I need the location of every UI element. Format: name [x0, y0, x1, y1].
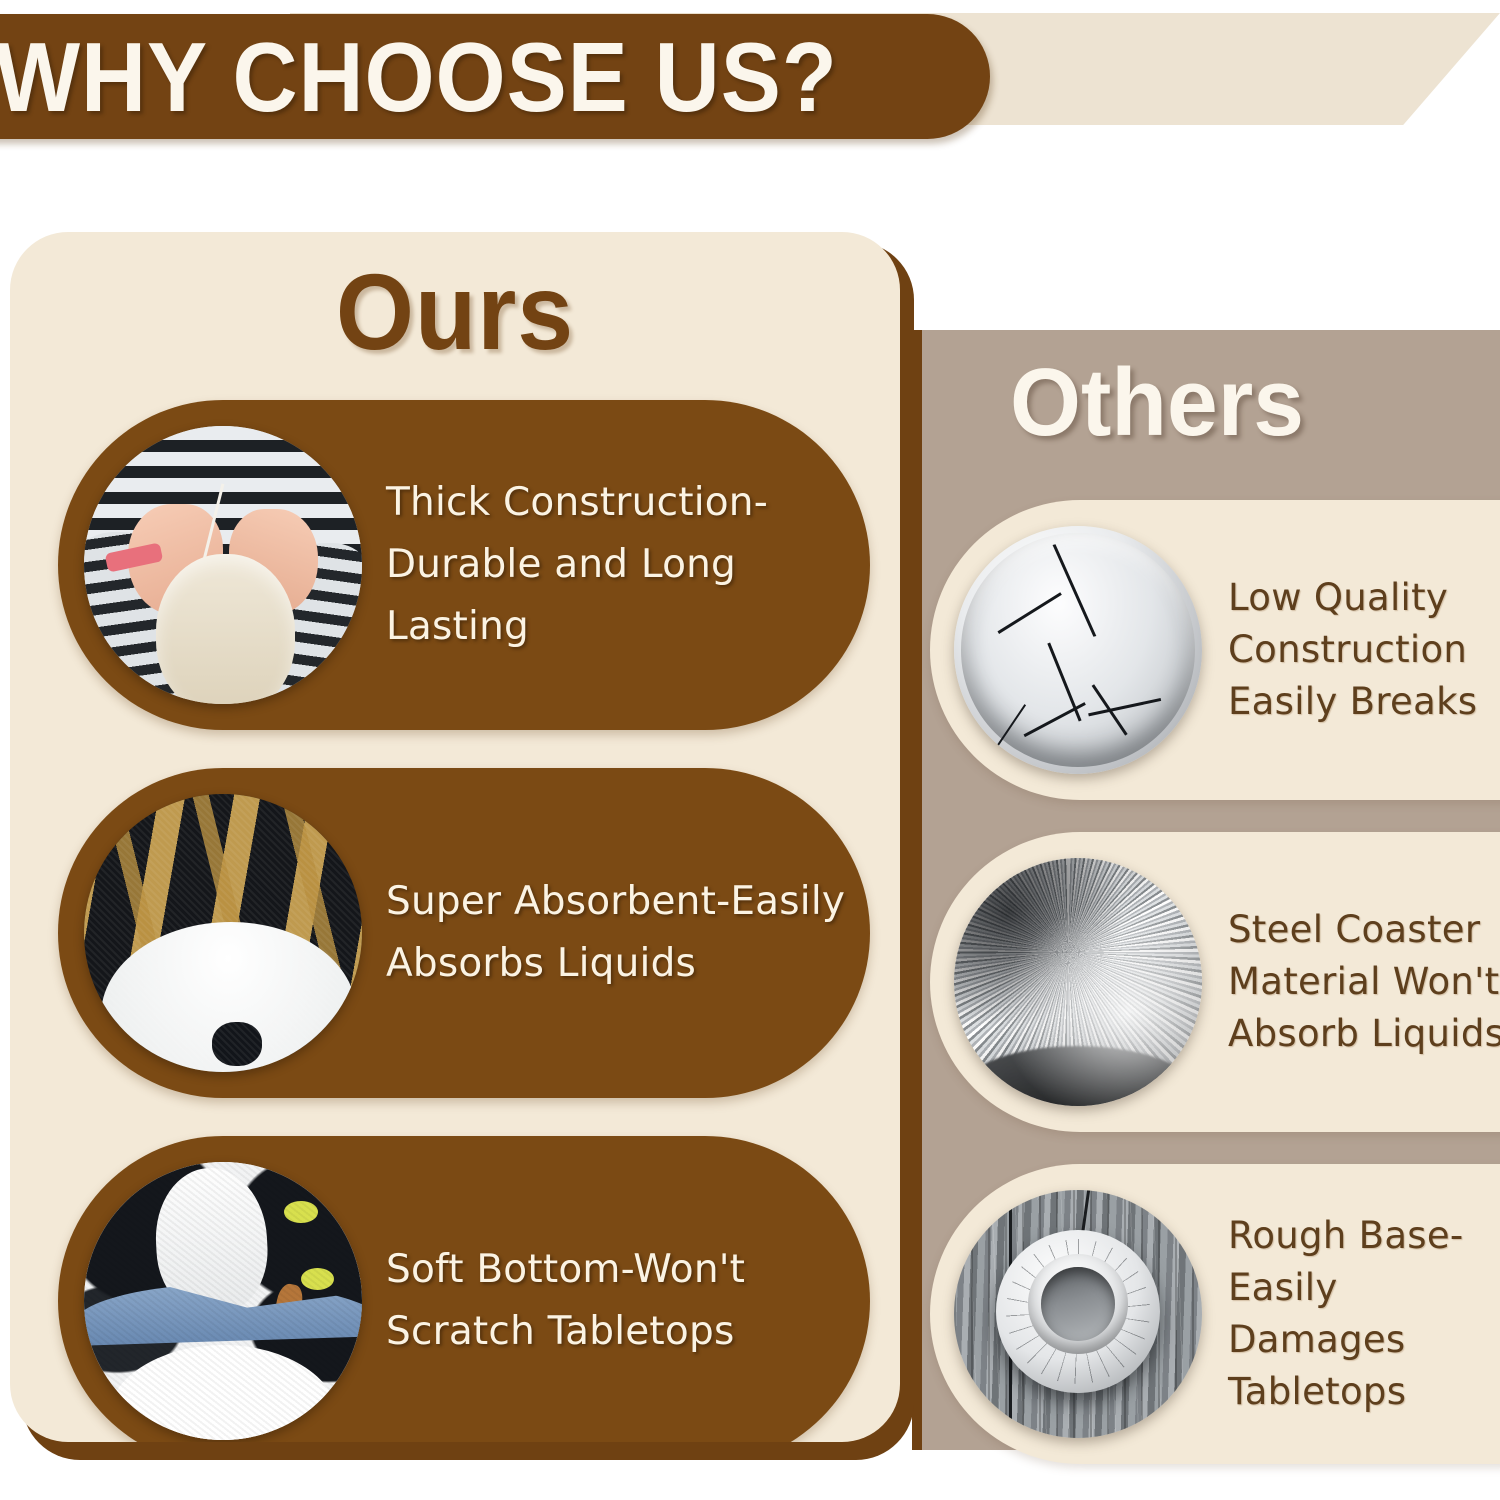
black-gold-white-knit-coaster-photo — [84, 794, 362, 1072]
ours-item-label: Super Absorbent-Easily Absorbs Liquids — [386, 871, 856, 995]
ours-list-item[interactable]: Thick Construction-Durable and Long Last… — [58, 400, 870, 730]
knit-cat-coaster-blue-edge-photo — [84, 1162, 362, 1440]
others-list-item[interactable]: Steel Coaster Material Won't Absorb Liqu… — [930, 832, 1500, 1132]
ours-column-title: Ours — [41, 250, 869, 374]
ours-item-label: Soft Bottom-Won't Scratch Tabletops — [386, 1239, 856, 1363]
cup-saucer-on-cracked-wood-photo — [954, 1190, 1202, 1438]
ours-panel: Ours Thick Construction-Durable and Long… — [10, 232, 900, 1442]
cracked-white-ceramic-plate-photo — [954, 526, 1202, 774]
others-list-item[interactable]: Rough Base- Easily Damages Tabletops — [930, 1164, 1500, 1464]
others-list-item[interactable]: Low Quality Construction Easily Breaks — [930, 500, 1500, 800]
ours-item-label: Thick Construction-Durable and Long Last… — [386, 472, 856, 658]
ours-list-item[interactable]: Soft Bottom-Won't Scratch Tabletops — [58, 1136, 870, 1442]
others-item-label: Steel Coaster Material Won't Absorb Liqu… — [1228, 904, 1500, 1060]
page-title: WHY CHOOSE US? — [0, 22, 838, 132]
others-feature-list: Low Quality Construction Easily Breaks S… — [930, 500, 1500, 1496]
knitting-hands-yarn-photo — [84, 426, 362, 704]
header-brown-banner: WHY CHOOSE US? — [0, 14, 990, 139]
others-column-title: Others — [1010, 348, 1304, 458]
ours-list-item[interactable]: Super Absorbent-Easily Absorbs Liquids — [58, 768, 870, 1098]
others-item-label: Low Quality Construction Easily Breaks — [1228, 572, 1500, 728]
brushed-steel-disc-photo — [954, 858, 1202, 1106]
header: WHY CHOOSE US? — [0, 0, 1500, 200]
ours-feature-list: Thick Construction-Durable and Long Last… — [58, 400, 900, 1442]
others-item-label: Rough Base- Easily Damages Tabletops — [1228, 1210, 1500, 1418]
